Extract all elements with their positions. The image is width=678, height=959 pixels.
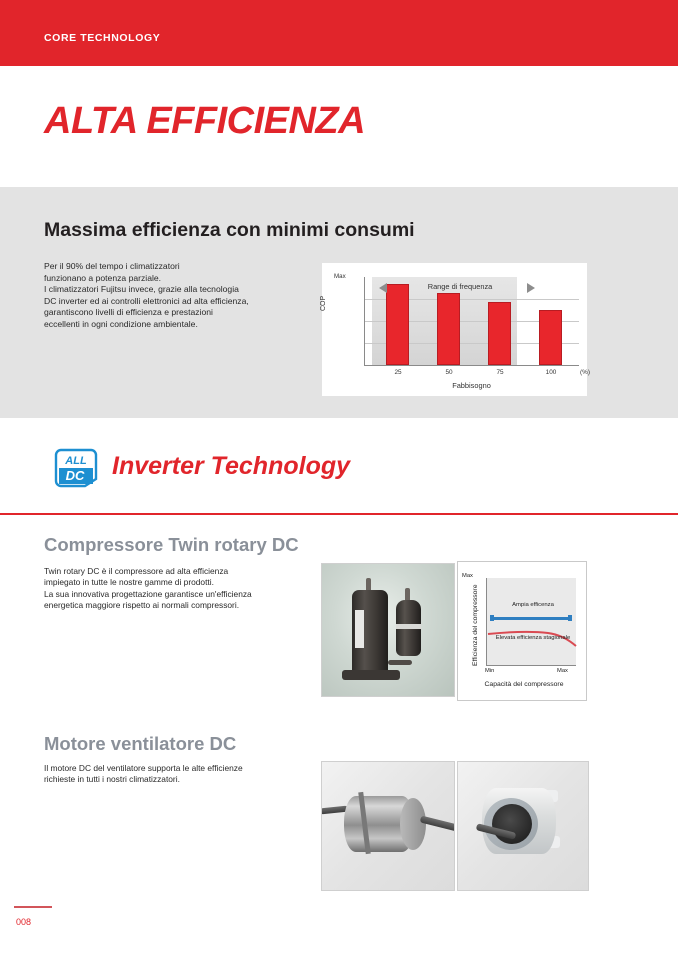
ampia-efficenza-endpoint-left — [490, 615, 494, 621]
all-dc-badge: ALL DC — [54, 448, 98, 488]
page-header-bar: CORE TECHNOLOGY — [0, 0, 678, 66]
cop-tick-25: 25 — [383, 369, 413, 376]
svg-text:ALL: ALL — [64, 455, 87, 467]
compressor-efficiency-chart: Ampia efficenza Elevata efficienza stagi… — [457, 561, 587, 701]
efficiency-x-max-label: Max — [557, 668, 568, 674]
efficiency-y-axis-label: Efficienza del compressore — [472, 585, 479, 666]
compressor-section-heading: Compressore Twin rotary DC — [44, 534, 299, 556]
elevata-efficienza-label: Elevata efficienza stagionale — [484, 635, 582, 641]
cop-bar-75 — [488, 302, 511, 365]
fan-motor-section-body: Il motore DC del ventilatore supporta le… — [44, 763, 312, 786]
efficiency-panel-heading: Massima efficienza con minimi consumi — [44, 219, 415, 242]
cop-y-max-label: Max — [334, 273, 346, 280]
compressor-line-2: impiegato in tutte le nostre gamme di pr… — [44, 577, 312, 588]
fan-motor-end-cap — [400, 798, 426, 850]
cop-y-axis-label: COP — [320, 296, 327, 311]
ampia-efficenza-endpoint-right — [568, 615, 572, 621]
efficiency-line-4: DC inverter ed ai controlli elettronici … — [44, 296, 294, 308]
cop-x-axis-label: Fabbisogno — [364, 381, 579, 390]
compressor-line-1: Twin rotary DC è il compressore ad alta … — [44, 566, 312, 577]
compressor-sticker — [355, 610, 364, 648]
ampia-efficenza-label: Ampia efficenza — [488, 602, 578, 608]
cop-bar-100 — [539, 310, 562, 365]
efficiency-line-1: Per il 90% del tempo i climatizzatori — [44, 261, 294, 273]
fan-motor-photo-right — [457, 761, 589, 891]
compressor-accumulator-band — [396, 624, 421, 629]
cop-x-tick-labels: 25 50 75 100 (%) — [364, 369, 592, 381]
efficiency-line-3: I climatizzatori Fujitsu invece, grazie … — [44, 284, 294, 296]
fan-motor-line-1: Il motore DC del ventilatore supporta le… — [44, 763, 312, 774]
efficiency-x-axis-label: Capacità del compressore — [468, 681, 580, 688]
efficiency-curve-svg — [486, 578, 578, 668]
page-number: 008 — [16, 917, 31, 927]
cop-bar-25 — [386, 284, 409, 365]
efficiency-line-5: garantiscono livelli di efficienza e pre… — [44, 307, 294, 319]
cop-tick-75: 75 — [485, 369, 515, 376]
page-title: ALTA EFFICIENZA — [44, 100, 365, 143]
compressor-section-body: Twin rotary DC è il compressore ad alta … — [44, 566, 312, 612]
cop-tick-50: 50 — [434, 369, 464, 376]
arrow-right-icon — [527, 283, 535, 293]
cop-x-axis — [364, 365, 579, 366]
compressor-base-plate — [342, 670, 400, 680]
compressor-line-4: energetica maggiore rispetto ai normali … — [44, 600, 312, 611]
cop-bar-50 — [437, 293, 460, 365]
efficiency-panel-body: Per il 90% del tempo i climatizzatori fu… — [44, 261, 294, 331]
svg-text:DC: DC — [66, 468, 85, 483]
cop-tick-100: 100 — [536, 369, 566, 376]
frequency-range-label: Range di frequenza — [400, 282, 520, 291]
efficiency-y-max-label: Max — [462, 573, 473, 579]
compressor-pipe-bottom — [388, 660, 412, 665]
cop-bar-chart: Max COP Range di frequenza 25 50 75 100 … — [322, 263, 587, 396]
compressor-line-3: La sua innovativa progettazione garantis… — [44, 589, 312, 600]
fan-motor-line-2: richieste in tutti i nostri climatizzato… — [44, 774, 312, 785]
fan-motor-photo-left — [321, 761, 455, 891]
efficiency-line-6: eccellenti in ogni condizione ambientale… — [44, 319, 294, 331]
arrow-left-icon — [379, 283, 387, 293]
section-divider-rule — [0, 513, 678, 515]
efficiency-line-2: funzionano a potenza parziale. — [44, 273, 294, 285]
cop-unit-label: (%) — [570, 369, 600, 376]
compressor-photo — [321, 563, 455, 697]
ampia-efficenza-line — [492, 617, 570, 620]
efficiency-x-min-label: Min — [485, 668, 494, 674]
footer-rule — [14, 906, 52, 908]
fan-motor-section-heading: Motore ventilatore DC — [44, 733, 236, 755]
inverter-technology-title: Inverter Technology — [112, 452, 350, 481]
header-eyebrow-label: CORE TECHNOLOGY — [44, 32, 160, 44]
